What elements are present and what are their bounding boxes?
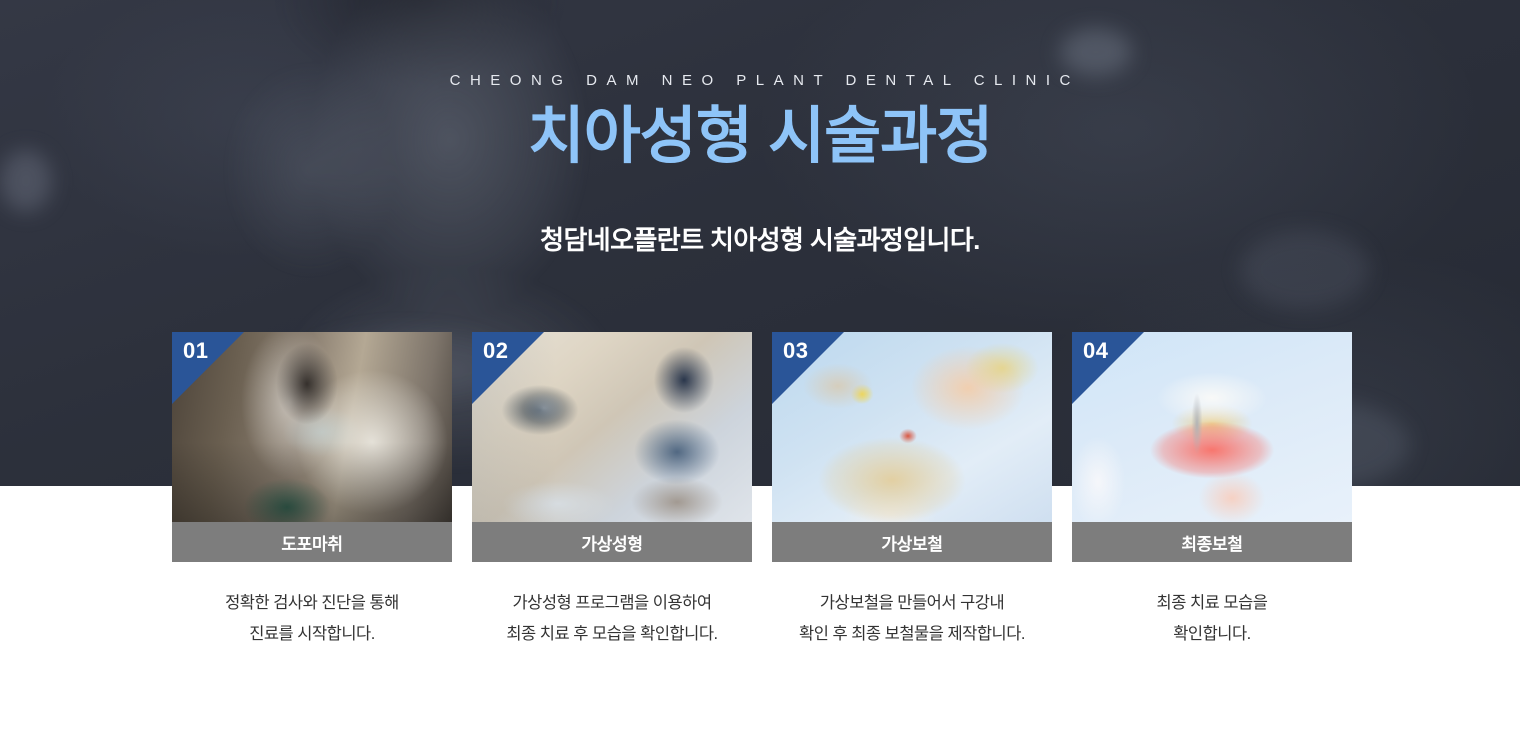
step-label: 가상보철 [772,522,1052,562]
procedure-step-card[interactable]: 04 최종보철 최종 치료 모습을 확인합니다. [1072,332,1352,649]
page-title: 치아성형 시술과정 [0,101,1520,172]
step-label: 최종보철 [1072,522,1352,562]
step-number-badge: 04 [1072,332,1144,404]
step-label: 도포마취 [172,522,452,562]
procedure-step-card[interactable]: 01 도포마취 정확한 검사와 진단을 통해 진료를 시작합니다. [172,332,452,649]
step-caption: 가상보철을 만들어서 구강내 확인 후 최종 보철물을 제작합니다. [772,588,1052,649]
step-number: 04 [1083,340,1108,362]
step-number: 02 [483,340,508,362]
procedure-step-card[interactable]: 02 가상성형 가상성형 프로그램을 이용하여 최종 치료 후 모습을 확인합니… [472,332,752,649]
step-number-badge: 02 [472,332,544,404]
step-number: 03 [783,340,808,362]
step-image-container: 01 [172,332,452,522]
step-label: 가상성형 [472,522,752,562]
step-caption: 정확한 검사와 진단을 통해 진료를 시작합니다. [172,588,452,649]
procedure-step-card[interactable]: 03 가상보철 가상보철을 만들어서 구강내 확인 후 최종 보철물을 제작합니… [772,332,1052,649]
step-number-badge: 03 [772,332,844,404]
step-image-container: 03 [772,332,1052,522]
step-caption: 가상성형 프로그램을 이용하여 최종 치료 후 모습을 확인합니다. [472,588,752,649]
procedure-step-list: 01 도포마취 정확한 검사와 진단을 통해 진료를 시작합니다. 02 가상성… [172,332,1352,649]
step-number: 01 [183,340,208,362]
step-image-container: 02 [472,332,752,522]
hero-text-block: CHEONG DAM NEO PLANT DENTAL CLINIC 치아성형 … [0,0,1520,257]
step-image-container: 04 [1072,332,1352,522]
step-caption: 최종 치료 모습을 확인합니다. [1072,588,1352,649]
procedure-page: CHEONG DAM NEO PLANT DENTAL CLINIC 치아성형 … [0,0,1520,753]
hero-eyebrow: CHEONG DAM NEO PLANT DENTAL CLINIC [0,72,1520,89]
step-number-badge: 01 [172,332,244,404]
hero-subtitle: 청담네오플란트 치아성형 시술과정입니다. [0,220,1520,257]
